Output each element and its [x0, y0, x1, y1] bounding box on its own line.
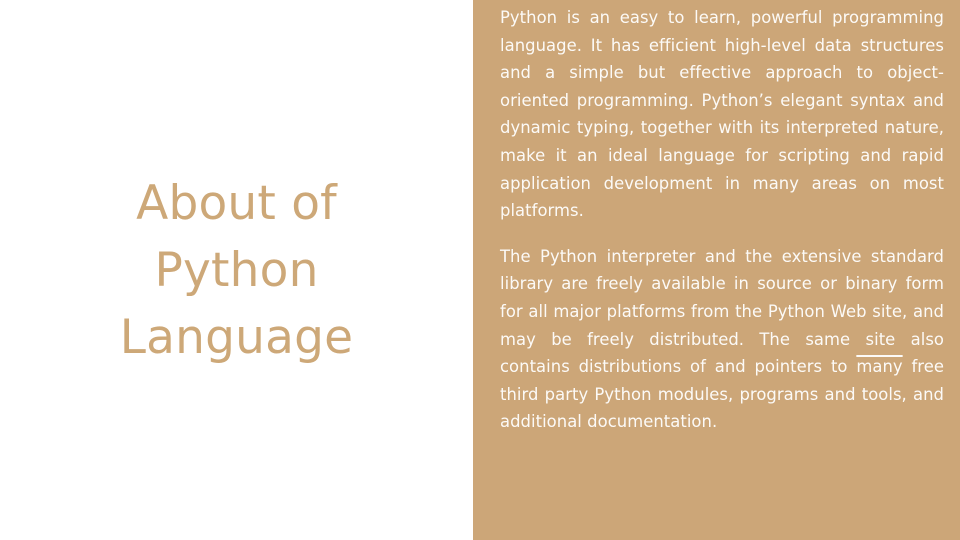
title-pane: About of Python Language: [0, 0, 473, 540]
body-text-panel: Python is an easy to learn, powerful pro…: [473, 0, 960, 540]
page-title: About of Python Language: [120, 170, 354, 371]
paragraph-intro: Python is an easy to learn, powerful pro…: [500, 4, 944, 225]
slide-canvas: About of Python Language Python is an ea…: [0, 0, 960, 540]
overlined-word-many: many: [856, 357, 902, 376]
paragraph-intro-text: Python is an easy to learn, powerful pro…: [500, 8, 944, 220]
paragraph-distribution: The Python interpreter and the extensive…: [500, 243, 944, 436]
